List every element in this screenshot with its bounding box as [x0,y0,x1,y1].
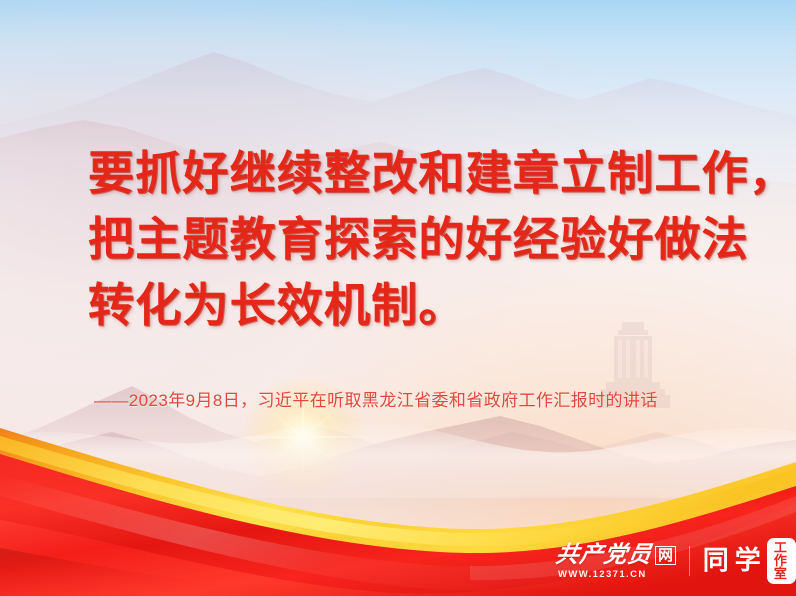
logo-char-chan: 产 [578,543,605,566]
logo-divider [689,546,690,576]
logo-char-wang: 网 [655,546,676,565]
headline-line-2: 把主题教育探索的好经验好做法 [88,206,758,272]
studio-char-xue: 学 [735,548,762,574]
poster-canvas: 要抓好继续整改和建章立制工作， 把主题教育探索的好经验好做法 转化为长效机制。 … [0,0,796,596]
headline-block: 要抓好继续整改和建章立制工作， 把主题教育探索的好经验好做法 转化为长效机制。 [88,140,758,338]
logo-tongxue-studio[interactable]: 同 学 工作室 [703,538,796,584]
attribution-line: ——2023年9月8日，习近平在听取黑龙江省委和省政府工作汇报时的讲话 [94,386,658,411]
headline-line-1: 要抓好继续整改和建章立制工作， [88,140,758,206]
headline-line-3: 转化为长效机制。 [88,272,758,338]
logo-calligraphy: 共 产 党 员 网 [556,543,676,566]
logo-gongchandangyuan[interactable]: 共 产 党 员 网 WWW.12371.CN [556,543,676,580]
logo-char-dang: 党 [602,543,629,566]
studio-pill-label: 工作室 [767,538,796,584]
brand-logo-bar[interactable]: 共 产 党 员 网 WWW.12371.CN 同 学 工作室 [556,538,796,584]
logo-char-gong: 共 [554,543,581,566]
studio-char-tong: 同 [703,548,730,574]
logo-website-url: WWW.12371.CN [558,569,647,580]
logo-char-yuan: 员 [626,543,653,566]
